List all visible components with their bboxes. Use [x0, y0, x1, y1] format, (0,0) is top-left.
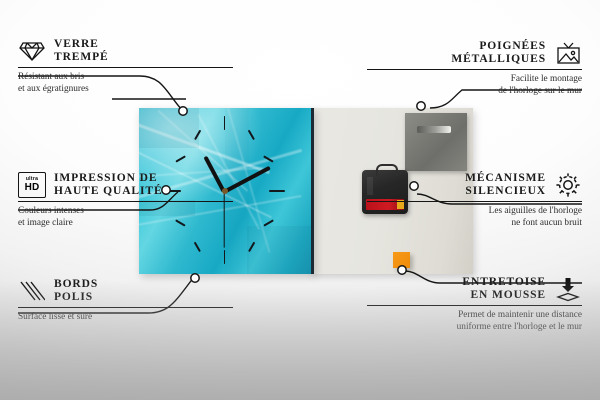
- callout-subtitle: Les aiguilles de l'horloge ne font aucun…: [367, 205, 582, 230]
- callout-poignees-metalliques: POIGNÉES MÉTALLIQUES Facilite le montage…: [367, 40, 582, 98]
- callout-title-line1: POIGNÉES: [479, 40, 546, 53]
- callout-title-line1: MÉCANISME: [465, 172, 546, 185]
- callout-rule: [367, 69, 582, 70]
- tick-2: [263, 155, 273, 162]
- callout-verre-trempe: VERRE TREMPÉ Résistant aux bris et aux é…: [18, 38, 233, 96]
- callout-rule: [18, 67, 233, 68]
- tick-7: [194, 242, 201, 252]
- callout-title-line1: ENTRETOISE: [462, 276, 546, 289]
- callout-title-line2: TREMPÉ: [54, 51, 109, 64]
- tick-12: [224, 116, 226, 130]
- callout-title-line2: POLIS: [54, 291, 93, 304]
- diamond-icon: [18, 38, 46, 64]
- foam-spacer: [393, 252, 410, 268]
- callout-subtitle: Couleurs intenses et image claire: [18, 205, 233, 230]
- tick-6: [224, 250, 226, 264]
- tick-4: [263, 219, 273, 226]
- callout-subtitle: Permet de maintenir une distance uniform…: [367, 309, 582, 334]
- callout-title-line2: MÉTALLIQUES: [451, 53, 546, 66]
- ultra-hd-icon-main-label: HD: [25, 183, 40, 193]
- callout-title-line2: EN MOUSSE: [470, 289, 546, 302]
- callout-title-line2: HAUTE QUALITÉ: [54, 185, 163, 198]
- callout-subtitle: Surface lisse et sûre: [18, 311, 233, 323]
- wall-mount-frame-icon: [554, 40, 582, 66]
- callout-subtitle: Facilite le montage de l'horloge sur le …: [367, 73, 582, 98]
- callout-entretoise-en-mousse: ENTRETOISE EN MOUSSE Permet de maintenir…: [367, 276, 582, 334]
- callout-impression-hd: ultra HD IMPRESSION DE HAUTE QUALITÉ Cou…: [18, 172, 233, 230]
- foam-spacer-arrow-icon: [554, 276, 582, 302]
- callout-subtitle: Résistant aux bris et aux égratignures: [18, 71, 233, 96]
- tick-1: [248, 130, 255, 140]
- callout-mecanisme-silencieux: MÉCANISME SILENCIEUX Les aiguilles de l'…: [367, 172, 582, 230]
- hanger-slot: [417, 126, 451, 133]
- callout-rule: [18, 307, 233, 308]
- callout-rule: [367, 305, 582, 306]
- ultra-hd-icon: ultra HD: [18, 172, 46, 198]
- callout-title-line1: VERRE: [54, 38, 99, 51]
- gear-icon: [554, 172, 582, 198]
- metal-hanger-plate: [405, 113, 467, 171]
- callout-bords-polis: BORDS POLIS Surface lisse et sûre: [18, 278, 233, 323]
- polished-edges-icon: [18, 278, 46, 304]
- tick-5: [248, 242, 255, 252]
- callout-title-line1: IMPRESSION DE: [54, 172, 157, 185]
- callout-rule: [367, 201, 582, 202]
- infographic-canvas: VERRE TREMPÉ Résistant aux bris et aux é…: [0, 0, 600, 400]
- tick-10: [175, 155, 185, 162]
- tick-11: [194, 130, 201, 140]
- callout-title-line1: BORDS: [54, 278, 98, 291]
- callout-rule: [18, 201, 233, 202]
- callout-title-line2: SILENCIEUX: [465, 185, 546, 198]
- tick-3: [269, 190, 285, 192]
